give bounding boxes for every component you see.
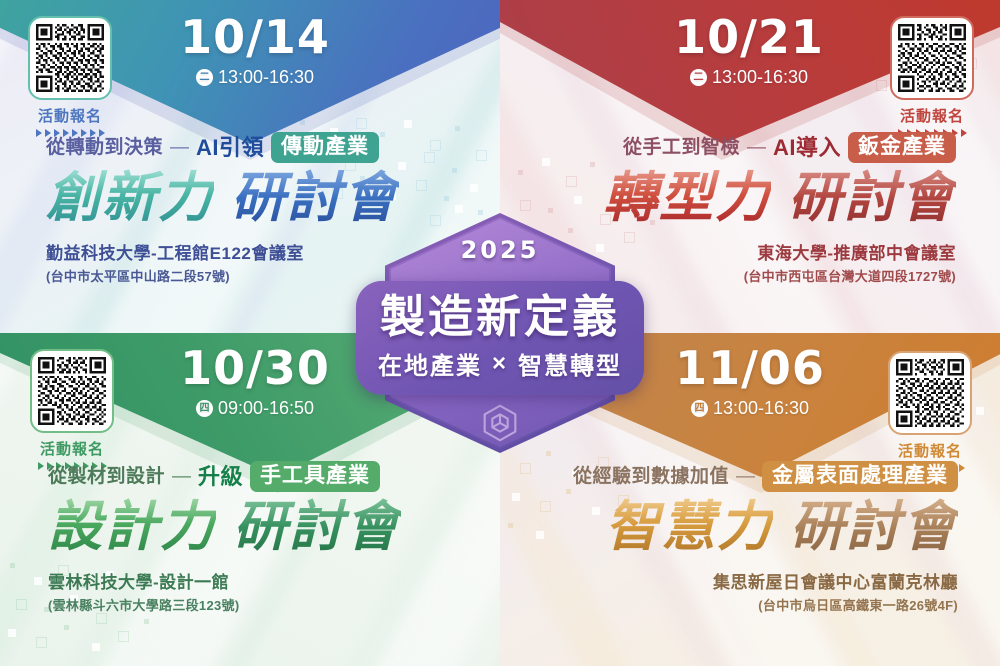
qr-code-icon <box>896 359 964 427</box>
qr-card[interactable] <box>30 349 114 433</box>
kicker-line: 從轉動到決策 — AI引領 傳動產業 <box>46 132 500 163</box>
industry-pill: 金屬表面處理產業 <box>762 461 958 492</box>
venue-name: 集思新屋日會議中心富蘭克林廳 <box>500 568 958 593</box>
kicker-strong: AI引領 <box>196 137 264 159</box>
kicker-line: 從經驗到數據加值 — 金屬表面處理產業 <box>500 461 958 492</box>
venue-address: (台中市烏日區高鐵東一路26號4F) <box>500 595 958 614</box>
headline: 設計力 研討會 <box>48 498 500 557</box>
industry-pill: 傳動產業 <box>271 132 379 163</box>
headline-primary: 設計力 <box>48 497 216 557</box>
kicker-lead: 從製材到設計 <box>48 467 165 486</box>
headline-primary: 智慧力 <box>605 497 773 557</box>
kicker-dash: — <box>736 467 755 486</box>
kicker-strong: AI導入 <box>773 137 841 159</box>
emblem-subtitle-left: 在地產業 <box>378 346 482 381</box>
venue-address: (雲林縣斗六市大學路三段123號) <box>48 595 500 614</box>
kicker-line: 從製材到設計 — 升級 手工具產業 <box>48 461 500 492</box>
headline-secondary: 研討會 <box>233 497 401 557</box>
center-emblem: 2025 製造新定義 在地產業 × 智慧轉型 <box>355 208 645 458</box>
kicker-lead: 從經驗到數據加值 <box>573 467 729 486</box>
cube-icon <box>477 400 523 446</box>
venue-name: 雲林科技大學-設計一館 <box>48 568 500 593</box>
emblem-year: 2025 <box>355 236 645 264</box>
registration-qr-block[interactable]: 活動報名 <box>20 16 120 137</box>
kicker-dash: — <box>172 467 191 486</box>
emblem-subtitle-right: 智慧轉型 <box>518 346 622 381</box>
qr-label: 活動報名 <box>880 440 980 461</box>
qr-card[interactable] <box>888 351 972 435</box>
kicker-dash: — <box>170 138 189 157</box>
qr-label: 活動報名 <box>22 438 122 459</box>
registration-qr-block[interactable]: 活動報名 <box>22 349 122 470</box>
headline-secondary: 研討會 <box>788 168 956 228</box>
kicker-lead: 從轉動到決策 <box>46 138 163 157</box>
venue-block: 集思新屋日會議中心富蘭克林廳 (台中市烏日區高鐵東一路26號4F) <box>500 568 958 614</box>
panel-content: 從經驗到數據加值 — 金屬表面處理產業 智慧力 研討會 集思新屋日會議中心富蘭克… <box>500 461 1000 614</box>
qr-code-icon <box>898 24 966 92</box>
headline: 智慧力 研討會 <box>500 498 958 557</box>
qr-label: 活動報名 <box>882 105 982 126</box>
emblem-subtitle: 在地產業 × 智慧轉型 <box>370 346 630 381</box>
qr-code-icon <box>38 357 106 425</box>
kicker-line: 從手工到智檢 — AI導入 鈑金產業 <box>500 132 956 163</box>
emblem-plate: 製造新定義 在地產業 × 智慧轉型 <box>356 281 644 395</box>
industry-pill: 鈑金產業 <box>848 132 956 163</box>
qr-label: 活動報名 <box>20 105 120 126</box>
registration-qr-block[interactable]: 活動報名 <box>880 351 980 472</box>
emblem-title: 製造新定義 <box>370 293 630 340</box>
kicker-dash: — <box>747 138 766 157</box>
qr-code-icon <box>36 24 104 92</box>
qr-card[interactable] <box>890 16 974 100</box>
headline-secondary: 研討會 <box>790 497 958 557</box>
panel-content: 從製材到設計 — 升級 手工具產業 設計力 研討會 雲林科技大學-設計一館 (雲… <box>0 461 500 614</box>
headline-primary: 創新力 <box>46 168 214 228</box>
venue-block: 雲林科技大學-設計一館 (雲林縣斗六市大學路三段123號) <box>48 568 500 614</box>
seminar-poster: 10/14 二 13:00-16:30 <box>0 0 1000 666</box>
registration-qr-block[interactable]: 活動報名 <box>882 16 982 137</box>
kicker-strong: 升級 <box>198 466 243 488</box>
qr-card[interactable] <box>28 16 112 100</box>
industry-pill: 手工具產業 <box>250 461 380 492</box>
kicker-lead: 從手工到智檢 <box>623 138 740 157</box>
emblem-subtitle-x: × <box>492 350 508 378</box>
